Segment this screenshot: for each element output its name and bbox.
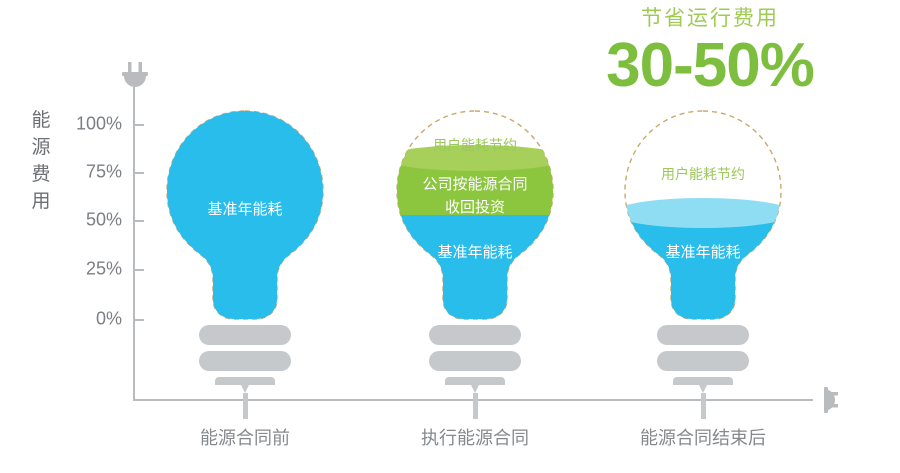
bulb-2-base-ring-1 [429,325,521,345]
y-tick-25 [133,269,144,271]
bulb-1: 基准年能耗 [155,103,335,321]
y-axis-title-char-2: 源 [28,135,54,162]
y-axis-title-char-4: 用 [28,189,54,216]
bulb-2-base-stem [473,393,478,419]
bulb-3-shape [613,103,793,328]
y-tick-label-25: 25% [62,259,122,280]
bulb-1-shape [155,103,335,328]
bulb-2-shape [385,103,565,328]
bulb-3-base-tip [695,377,711,393]
bulb-2: 用户能耗节约 公司按能源合同 收回投资 基准年能耗 [385,103,565,321]
headline-value: 30-50% [570,33,850,98]
bulb-3: 用户能耗节约 基准年能耗 [613,103,793,321]
x-axis-label-2: 执行能源合同 [365,424,585,450]
y-tick-label-75: 75% [62,162,122,183]
headline-block: 节省运行费用 30-50% [570,6,850,98]
y-tick-50 [133,220,144,222]
headline-subtitle: 节省运行费用 [570,6,850,31]
power-plug-icon-right [810,385,838,415]
y-axis-line [133,86,135,401]
y-tick-0 [133,319,144,321]
y-tick-label-50: 50% [62,210,122,231]
bulb-group-2: 用户能耗节约 公司按能源合同 收回投资 基准年能耗 [385,103,565,398]
bulb-1-base-stem [243,393,248,419]
y-tick-label-100: 100% [62,114,122,135]
y-tick-label-0: 0% [62,309,122,330]
y-axis-title: 能 源 费 用 [28,108,54,216]
bulb-1-base-tip [237,377,253,393]
bulb-3-liquid-surface [613,198,793,228]
x-axis-label-3: 能源合同结束后 [593,424,813,450]
bulb-2-base-tip [467,377,483,393]
y-axis-title-char-1: 能 [28,108,54,135]
bulb-3-base-stem [701,393,706,419]
x-axis-label-1: 能源合同前 [135,424,355,450]
y-tick-100 [133,124,144,126]
bulb-1-base-ring-2 [199,351,291,371]
bulb-1-base [199,325,291,419]
bulb-3-base [657,325,749,419]
power-plug-icon-top [120,62,150,88]
bulb-1-base-ring-1 [199,325,291,345]
y-axis-title-char-3: 费 [28,162,54,189]
infographic-canvas: 节省运行费用 30-50% 能 源 费 用 100% 75% 50% 25% 0… [0,0,900,473]
bulb-3-fill-blue [613,213,793,325]
bulb-2-liquid-surface [385,145,565,171]
bulb-2-base [429,325,521,419]
bulb-group-1: 基准年能耗 [155,103,335,398]
bulb-2-fill-blue [385,213,565,325]
bulb-3-base-ring-1 [657,325,749,345]
bulb-3-base-ring-2 [657,351,749,371]
bulb-2-base-ring-2 [429,351,521,371]
bulb-group-3: 用户能耗节约 基准年能耗 [613,103,793,398]
y-tick-75 [133,172,144,174]
